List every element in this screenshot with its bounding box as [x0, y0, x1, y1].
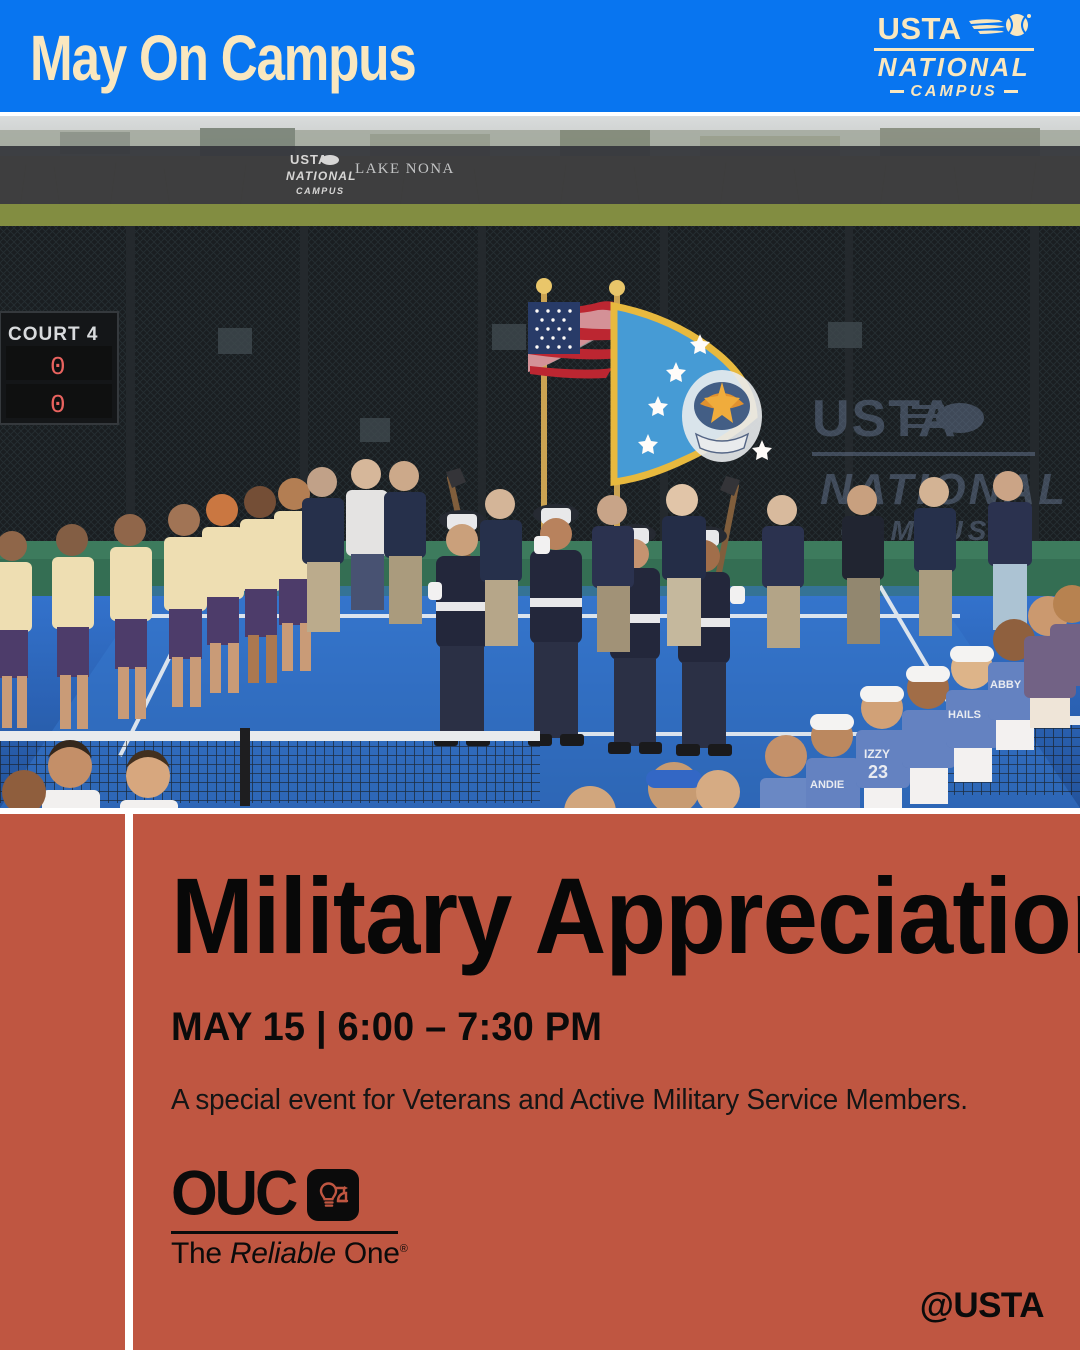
event-headline: Military Appreciation: [171, 866, 970, 965]
event-datetime: MAY 15 | 6:00 – 7:30 PM: [171, 1005, 997, 1050]
usta-wordmark: USTA: [877, 13, 961, 44]
flaming-tennis-ball-icon: [969, 13, 1031, 44]
page-title: May On Campus: [30, 22, 416, 90]
event-subtitle: A special event for Veterans and Active …: [171, 1084, 1005, 1117]
usta-logo-campus-row: CAMPUS: [890, 83, 1017, 101]
dash-right-icon: [1004, 90, 1018, 93]
photo-illustration: USTA NATIONAL CAMPUS LAKE NONA USTA NATI…: [0, 116, 1080, 808]
header-banner: May On Campus USTA NATIONAL CAMPUS: [0, 0, 1080, 112]
ouc-tagline-prefix: The: [171, 1237, 230, 1270]
bottom-section: Military Appreciation MAY 15 | 6:00 – 7:…: [0, 814, 1080, 1350]
event-details-panel: Military Appreciation MAY 15 | 6:00 – 7:…: [133, 814, 1080, 1350]
ouc-tagline-suffix: One: [336, 1237, 400, 1270]
ouc-logo[interactable]: OUC The Reliable One®: [171, 1165, 406, 1269]
lightbulb-water-drop-icon: [307, 1169, 359, 1221]
usta-logo-campus: CAMPUS: [910, 83, 997, 101]
accent-block-left: [0, 814, 125, 1350]
dash-left-icon: [890, 90, 904, 93]
usta-logo-divider: [874, 48, 1034, 51]
ouc-logo-top-row: OUC: [171, 1165, 406, 1225]
registered-mark-icon: ®: [400, 1243, 408, 1255]
ouc-tagline-italic: Reliable: [230, 1237, 336, 1270]
military-appreciation-color-guard-photo: USTA NATIONAL CAMPUS LAKE NONA USTA NATI…: [0, 116, 1080, 808]
usta-logo-national: NATIONAL: [878, 54, 1030, 81]
usta-logo-top-row: USTA: [877, 13, 1030, 44]
ouc-tagline: The Reliable One®: [171, 1239, 406, 1269]
ouc-wordmark: OUC: [171, 1162, 295, 1225]
social-handle[interactable]: @USTA: [920, 1286, 1044, 1326]
ouc-logo-divider: [171, 1231, 398, 1234]
usta-national-campus-logo[interactable]: USTA NATIONAL CAMPUS: [874, 11, 1058, 100]
